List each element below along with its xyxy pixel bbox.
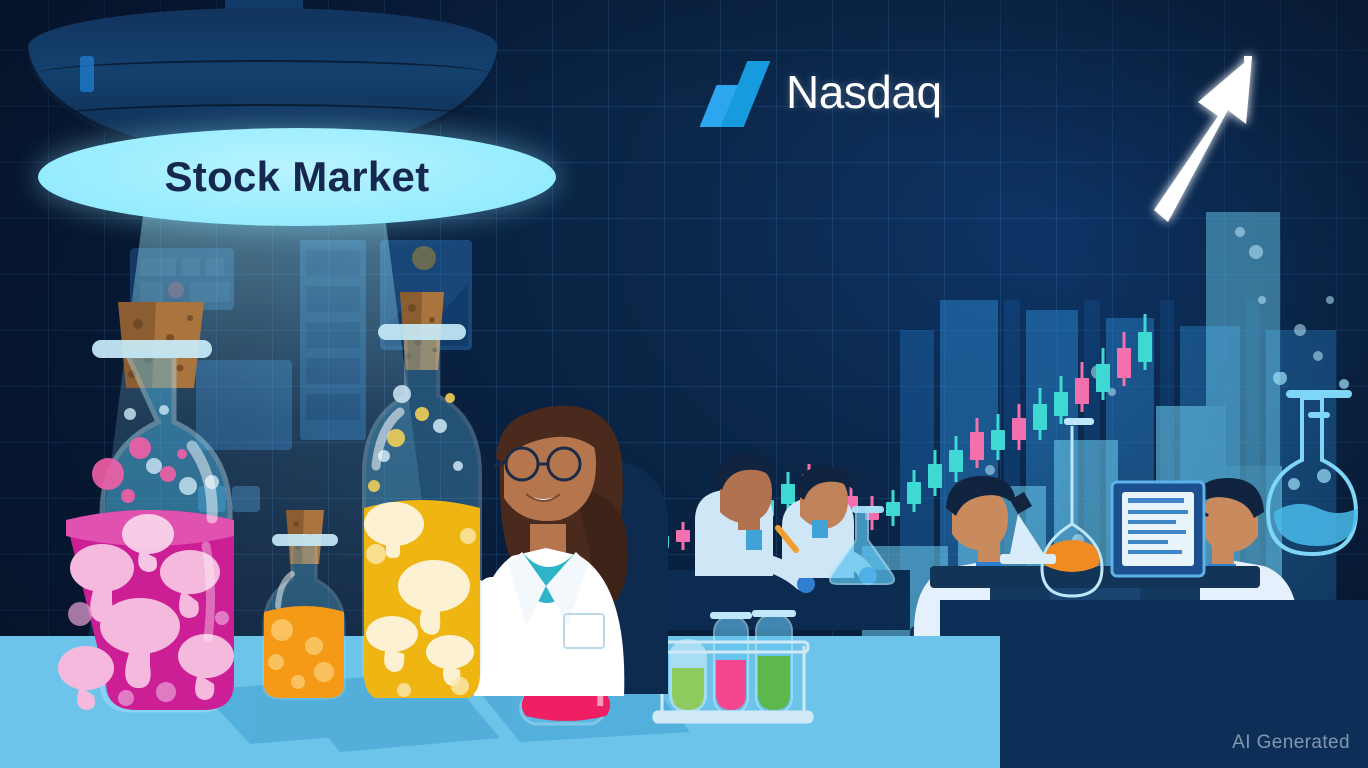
round-bottom-flask: [1266, 372, 1368, 642]
lamp-highlight: [80, 56, 94, 92]
page-title: Stock Market: [38, 128, 556, 226]
nasdaq-mark-icon: [706, 59, 772, 125]
tablet-screen: [1112, 482, 1204, 576]
test-tube: [710, 612, 752, 714]
nasdaq-logo: Nasdaq: [706, 54, 996, 130]
bottle-magenta: [40, 296, 270, 716]
trend-arrow-icon: [1140, 20, 1270, 240]
illustration-canvas: Stock Market Nasdaq: [0, 0, 1368, 768]
bottle-amber: [340, 286, 500, 698]
nasdaq-wordmark: Nasdaq: [786, 65, 942, 119]
lamp-rim-upper: [36, 60, 490, 88]
test-tube: [752, 610, 796, 714]
ai-generated-watermark: AI Generated: [1232, 732, 1350, 754]
